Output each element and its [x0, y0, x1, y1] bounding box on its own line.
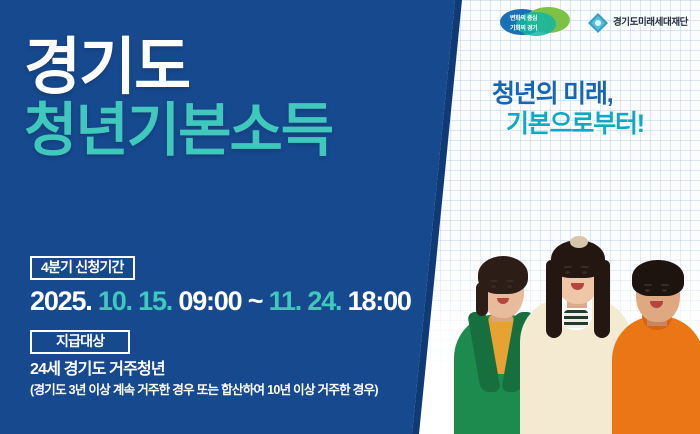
- title-line-2: 청년기본소득: [24, 98, 332, 165]
- eye-left: [491, 285, 496, 288]
- eye-right: [507, 285, 512, 288]
- application-period-value: 2025. 10. 15. 09:00 ~ 11. 24. 18:00: [30, 287, 430, 317]
- application-period-tag: 4분기 신청기간: [30, 256, 135, 280]
- main-title: 경기도 청년기본소득: [24, 38, 332, 164]
- youth-photo: [452, 150, 700, 434]
- eyebrow-right: [581, 266, 589, 268]
- subtitle-line-2: 기본으로부터!: [492, 110, 644, 140]
- period-start-time: 09:00: [178, 286, 241, 316]
- slogan-text-line1: 변화의 중심: [510, 13, 537, 22]
- subtitle: 청년의 미래, 기본으로부터!: [492, 80, 644, 139]
- foundation-diamond-icon: [588, 13, 608, 33]
- period-end-time: 18:00: [348, 286, 411, 316]
- title-line-1: 경기도: [24, 38, 332, 98]
- eyebrow-left: [644, 284, 652, 286]
- eye-right: [662, 289, 667, 292]
- eyebrow-right: [661, 284, 669, 286]
- slogan-text-line2: 기회의 경기: [510, 23, 537, 32]
- logo-group: 변화의 중심 기회의 경기 경기도미래세대재단: [500, 7, 688, 38]
- hair-bun: [570, 236, 588, 248]
- target-sub-text: (경기도 3년 이상 계속 거주한 경우 또는 합산하여 10년 이상 거주한 …: [30, 383, 430, 398]
- gyeonggi-youth-basic-income-banner: 변화의 중심 기회의 경기 경기도미래세대재단 경기도 청년기본소득 청년의 미…: [0, 0, 700, 434]
- foundation-logo: 경기도미래세대재단: [588, 13, 688, 33]
- spacer: [30, 317, 430, 330]
- target-main-text: 24세 경기도 거주청년: [30, 360, 430, 379]
- period-start-date: 10. 15.: [98, 286, 172, 316]
- target-tag: 지급대상: [30, 330, 130, 354]
- hair-long-left: [546, 260, 562, 338]
- hair-side: [476, 282, 488, 316]
- foundation-name: 경기도미래세대재단: [613, 18, 688, 28]
- eye-left: [565, 271, 570, 274]
- hair: [632, 260, 684, 296]
- orange-sweater: [612, 316, 700, 434]
- info-block: 4분기 신청기간 2025. 10. 15. 09:00 ~ 11. 24. 1…: [30, 256, 430, 398]
- eyebrow-left: [490, 280, 498, 282]
- period-end-date: 11. 24.: [269, 286, 342, 316]
- eye-left: [645, 289, 650, 292]
- eye-right: [582, 271, 587, 274]
- subtitle-line-1: 청년의 미래,: [492, 80, 644, 110]
- person-orange-sweater-man: [612, 216, 700, 434]
- gyeonggi-slogan-logo: 변화의 중심 기회의 경기: [500, 7, 574, 38]
- eyebrow-right: [506, 280, 514, 282]
- striped-top: [564, 310, 588, 328]
- period-year: 2025.: [30, 286, 92, 316]
- eyebrow-left: [564, 266, 572, 268]
- hair-long-right: [594, 260, 610, 338]
- period-separator: ~: [248, 286, 263, 316]
